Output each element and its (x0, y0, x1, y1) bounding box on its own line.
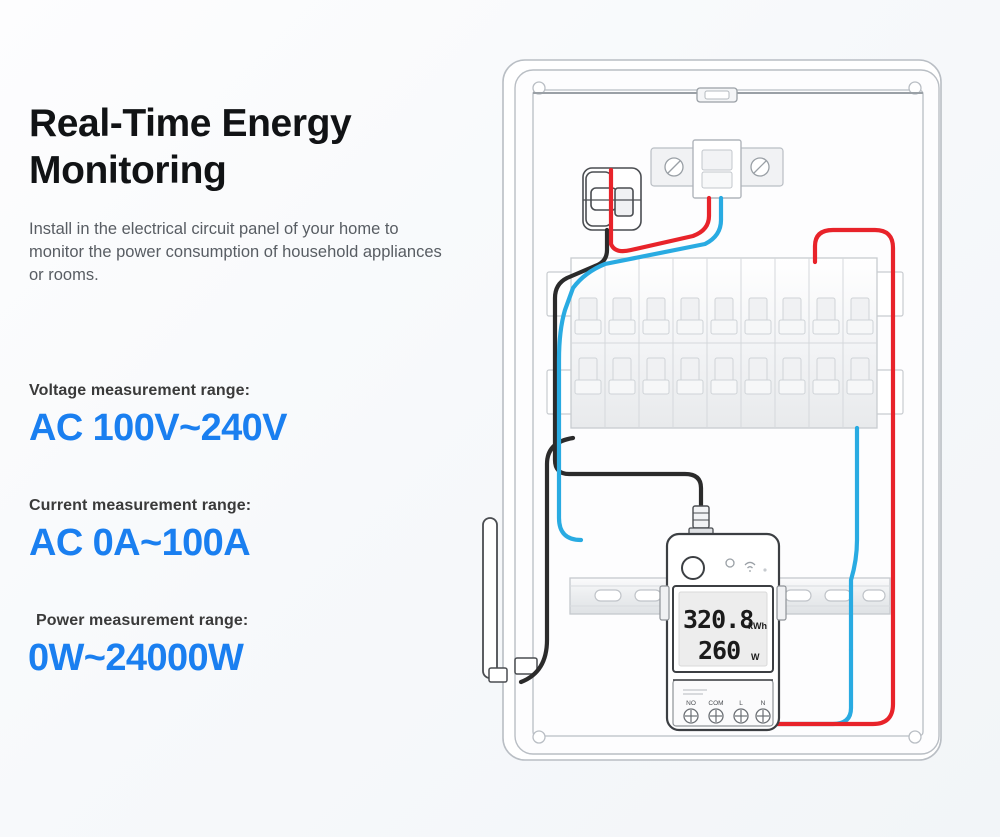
spec-power-value: 0W~24000W (28, 636, 248, 680)
spec-voltage: Voltage measurement range: AC 100V~240V (29, 382, 287, 450)
page-title: Real-Time Energy Monitoring (29, 100, 479, 194)
spec-current: Current measurement range: AC 0A~100A (29, 497, 251, 565)
spec-power: Power measurement range: 0W~24000W (36, 612, 248, 680)
spec-power-label: Power measurement range: (36, 612, 248, 630)
spec-voltage-value: AC 100V~240V (29, 406, 287, 450)
meter-cable-connector (689, 506, 713, 535)
breaker-toggle (579, 298, 869, 322)
breaker-bank (547, 258, 903, 428)
lcd-power-unit: W (751, 652, 760, 662)
panel-illustration: 320.8 kWh 260 W NO COM L N (455, 40, 975, 800)
page-description: Install in the electrical circuit panel … (29, 218, 449, 287)
terminal-label-no: NO (686, 700, 696, 707)
terminal-label-l: L (739, 700, 743, 707)
terminal-label-n: N (761, 700, 766, 707)
breaker-toggle (579, 358, 869, 382)
terminal-label-com: COM (708, 700, 723, 707)
energy-meter: 320.8 kWh 260 W NO COM L N (660, 506, 786, 730)
lcd-energy-value: 320.8 (683, 605, 753, 634)
spec-voltage-label: Voltage measurement range: (29, 382, 287, 400)
lcd-energy-unit: kWh (748, 621, 767, 631)
lcd-power-value: 260 (698, 636, 740, 665)
copy-block: Real-Time Energy Monitoring Install in t… (29, 100, 479, 287)
meter-button[interactable] (682, 557, 704, 579)
spec-current-value: AC 0A~100A (29, 521, 251, 565)
infographic-root: Real-Time Energy Monitoring Install in t… (0, 0, 1000, 837)
spec-current-label: Current measurement range: (29, 497, 251, 515)
